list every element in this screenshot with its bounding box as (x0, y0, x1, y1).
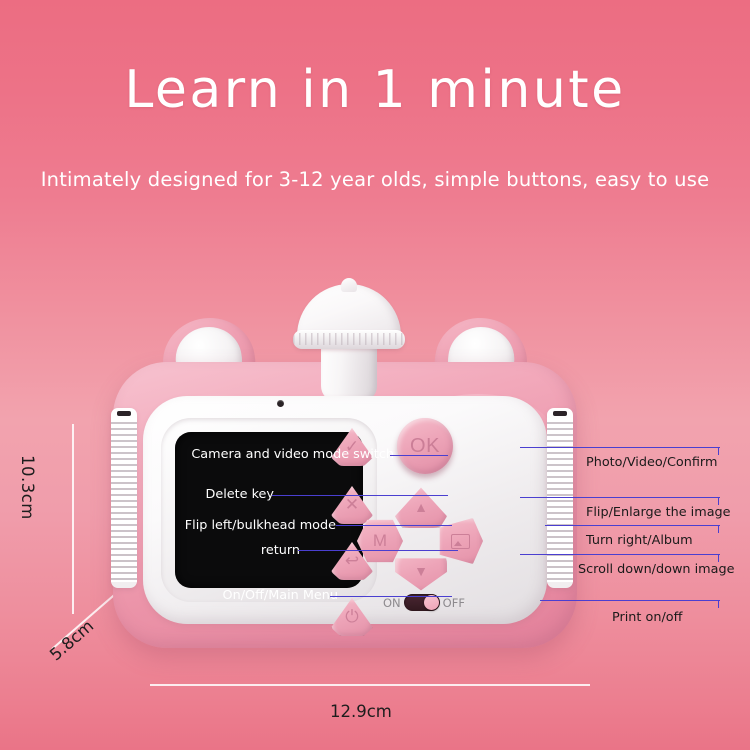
leader-line-5 (330, 596, 452, 597)
annotation-print-onoff: Print on/off (612, 610, 682, 625)
toggle-off-label: OFF (443, 596, 465, 610)
power-icon: ⏻ (345, 607, 358, 627)
annotation-turn-right-album: Turn right/Album (586, 533, 693, 548)
leader-tick-6 (718, 447, 719, 455)
image-icon (451, 534, 470, 549)
triangle-down-icon: ▼ (414, 563, 428, 579)
leader-line-9 (520, 554, 720, 555)
paper-slot-left-tab (117, 411, 131, 416)
annotation-photo-video-confirm: Photo/Video/Confirm (586, 455, 717, 470)
triangle-up-icon: ▲ (414, 499, 428, 515)
leader-line-4 (298, 550, 458, 551)
leader-line-2 (272, 495, 448, 496)
annotation-onoff-main-menu: On/Off/Main Menu (223, 588, 338, 603)
product-infographic: Learn in 1 minute Intimately designed fo… (0, 0, 750, 750)
printer-paper-dome (297, 284, 401, 402)
leader-tick-9 (718, 554, 719, 562)
dome-ridged-rim (293, 330, 405, 349)
width-dimension-label: 12.9cm (330, 702, 392, 721)
annotation-delete-key: Delete key (205, 487, 274, 502)
paper-slot-right-tab (553, 411, 567, 416)
page-subtitle: Intimately designed for 3-12 year olds, … (0, 168, 750, 191)
leader-line-1 (390, 455, 448, 456)
leader-tick-10 (718, 600, 719, 608)
page-title: Learn in 1 minute (0, 64, 750, 116)
annotation-flip-enlarge: Flip/Enlarge the image (586, 505, 731, 520)
height-dimension-label: 10.3cm (18, 455, 37, 520)
annotation-camera-video-switch: Camera and video mode switch (191, 447, 394, 462)
dome-knob (341, 278, 357, 292)
leader-line-3 (336, 525, 452, 526)
leader-tick-8 (718, 525, 719, 533)
leader-line-6 (520, 447, 720, 448)
leader-line-10 (540, 600, 720, 601)
close-icon: ✕ (345, 495, 359, 515)
sensor-dot-icon (277, 400, 284, 407)
depth-dimension-label: 5.8cm (46, 616, 97, 664)
toggle-on-label: ON (383, 596, 401, 610)
leader-line-8 (545, 525, 720, 526)
kids-camera-product-image: ✓ ✕ ↩ ⏻ OK ▲ ▼ M ON (105, 300, 585, 660)
ok-button[interactable]: OK (397, 418, 453, 474)
menu-label: M (373, 531, 387, 551)
annotation-scroll-down: Scroll down/down image (578, 562, 734, 577)
return-arrow-icon: ↩ (345, 551, 359, 571)
annotation-flip-left-mode: Flip left/bulkhead mode (185, 518, 336, 533)
width-dimension-line (150, 684, 590, 686)
height-dimension-line (72, 424, 74, 614)
leader-tick-7 (718, 497, 719, 505)
leader-line-7 (520, 497, 720, 498)
annotation-return: return (261, 543, 300, 558)
paper-slot-left (111, 408, 137, 588)
